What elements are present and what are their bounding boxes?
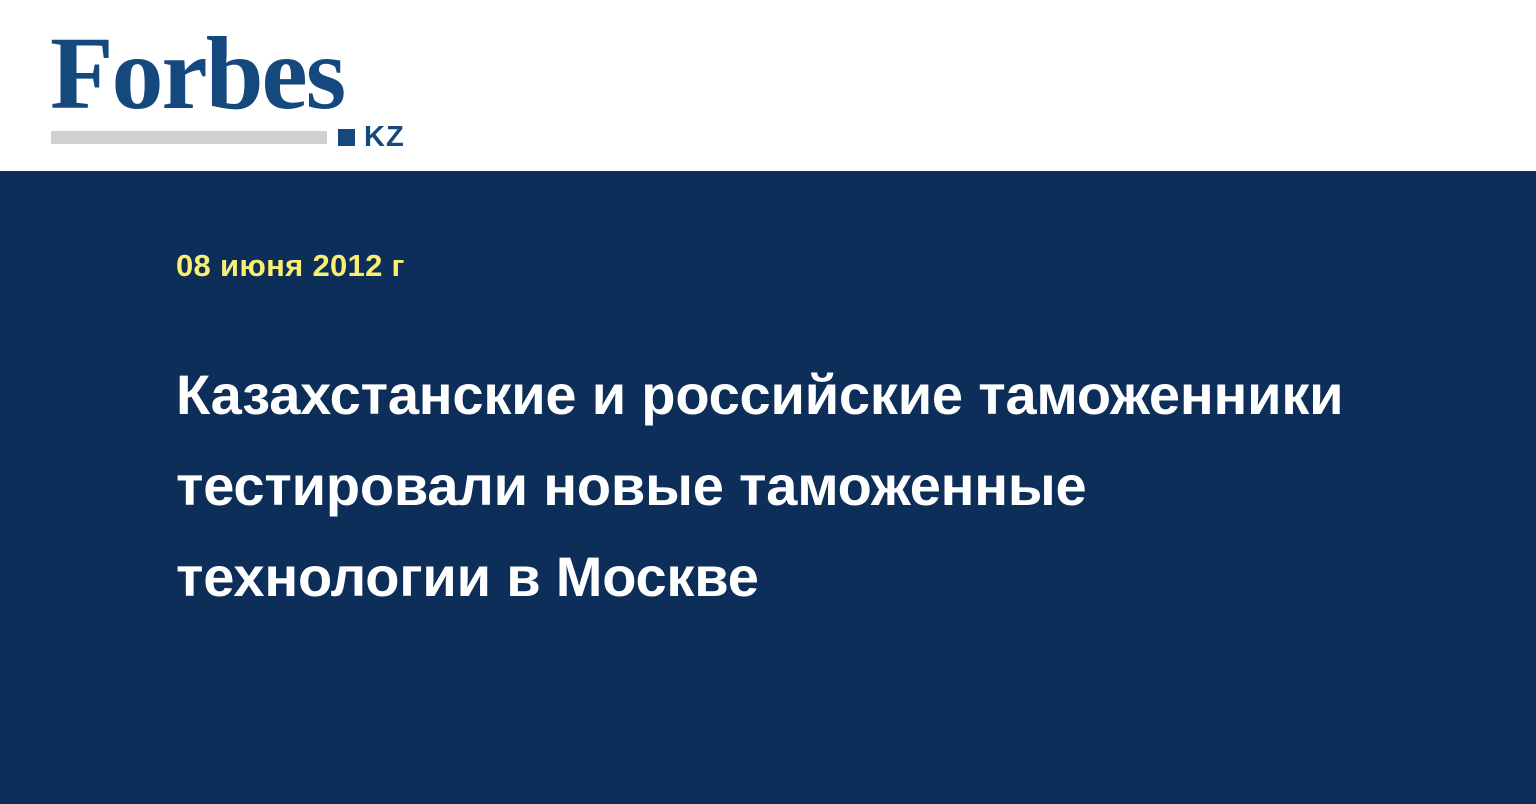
article-date: 08 июня 2012 г (176, 250, 405, 281)
article-hero-page: Forbes kz 08 июня 2012 г Казахстанские и… (0, 0, 1536, 804)
article-hero: 08 июня 2012 г Казахстанские и российски… (0, 171, 1536, 804)
site-header: Forbes kz (0, 0, 1536, 171)
logo-kz-suffix: kz (364, 123, 405, 152)
logo-rule-row: kz (51, 125, 417, 149)
forbes-wordmark: Forbes (50, 22, 410, 126)
article-headline: Казахстанские и российские таможенники т… (176, 349, 1351, 622)
logo-gray-rule (51, 131, 327, 144)
blue-square-bullet-icon (338, 129, 355, 146)
forbes-kz-logo[interactable]: Forbes kz (50, 22, 410, 146)
